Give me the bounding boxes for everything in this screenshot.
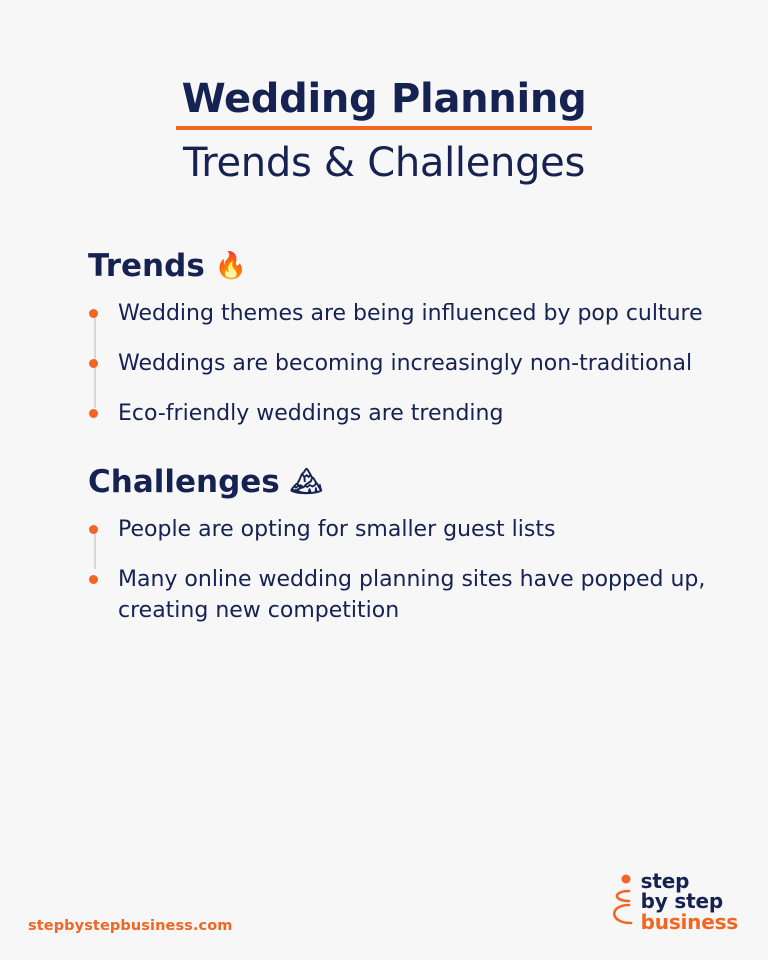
section-challenges-title: Challenges [88, 464, 280, 500]
section-trends-heading: Trends 🔥 [88, 248, 718, 284]
list-item: Many online wedding planning sites have … [88, 564, 718, 628]
section-trends-title: Trends [88, 248, 205, 284]
bullet-dot-icon [89, 525, 98, 534]
section-challenges: Challenges 🏔 People are opting for small… [88, 464, 718, 628]
section-trends: Trends 🔥 Wedding themes are being influe… [88, 248, 718, 430]
logo-line-1: step [641, 871, 738, 891]
section-challenges-heading: Challenges 🏔 [88, 464, 718, 500]
footer-website-url[interactable]: stepbystepbusiness.com [28, 918, 232, 934]
fire-emoji: 🔥 [215, 253, 247, 279]
list-item: Eco-friendly weddings are trending [88, 398, 718, 430]
list-item: People are opting for smaller guest list… [88, 514, 718, 546]
trends-list: Wedding themes are being influenced by p… [88, 298, 718, 430]
logo-mark-icon [607, 872, 633, 930]
sections-container: Trends 🔥 Wedding themes are being influe… [0, 248, 768, 627]
list-item-text: People are opting for smaller guest list… [118, 517, 555, 542]
bullet-dot-icon [89, 309, 98, 318]
page-subtitle: Trends & Challenges [0, 138, 768, 188]
list-item: Wedding themes are being influenced by p… [88, 298, 718, 330]
bullet-dot-icon [89, 409, 98, 418]
bullet-dot-icon [89, 359, 98, 368]
list-item-text: Wedding themes are being influenced by p… [118, 301, 703, 326]
title-block: Wedding Planning Trends & Challenges [0, 0, 768, 188]
logo-line-2: by step [641, 891, 738, 911]
bullet-dot-icon [89, 575, 98, 584]
logo-line-3: business [641, 912, 738, 932]
infographic-page: Wedding Planning Trends & Challenges Tre… [0, 0, 768, 960]
list-item: Weddings are becoming increasingly non-t… [88, 348, 718, 380]
logo-text: step by step business [641, 871, 738, 932]
list-item-text: Many online wedding planning sites have … [118, 567, 705, 624]
list-item-text: Eco-friendly weddings are trending [118, 401, 503, 426]
challenges-list: People are opting for smaller guest list… [88, 514, 718, 628]
list-item-text: Weddings are becoming increasingly non-t… [118, 351, 692, 376]
page-title: Wedding Planning [176, 78, 593, 130]
mountain-emoji: 🏔 [290, 469, 323, 495]
brand-logo[interactable]: step by step business [607, 871, 738, 932]
